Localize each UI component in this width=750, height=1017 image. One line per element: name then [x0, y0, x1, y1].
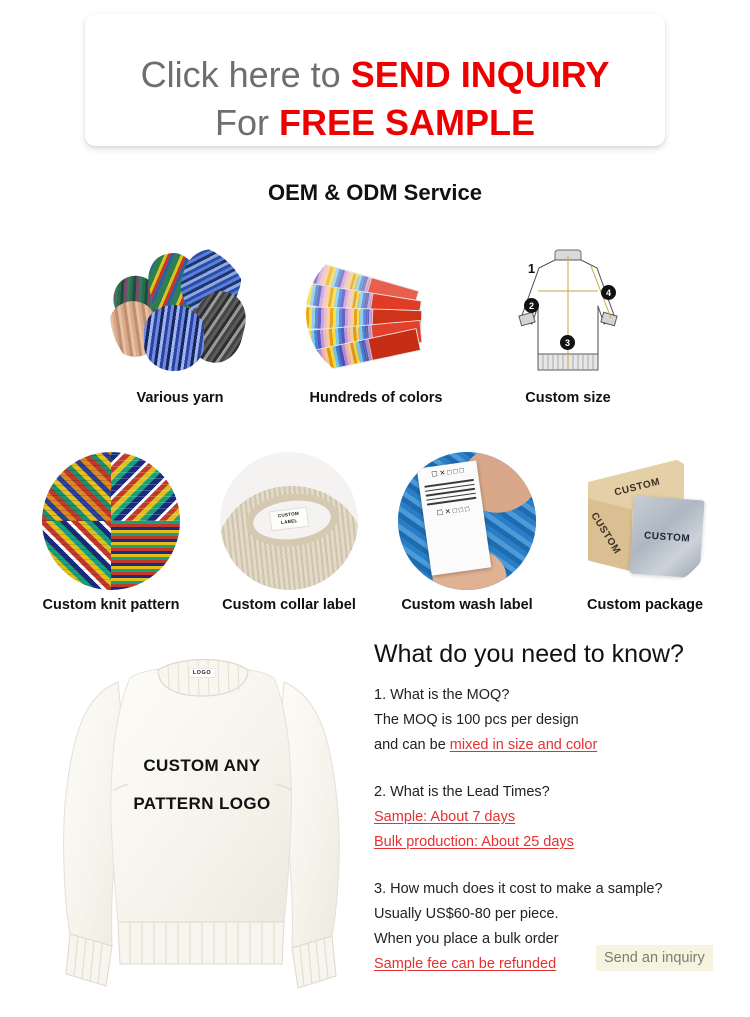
- feature-caption: Various yarn: [85, 390, 275, 406]
- send-inquiry-banner[interactable]: Click here to SEND INQUIRY For FREE SAMP…: [85, 14, 665, 146]
- wash-instruction-lines: [424, 479, 476, 506]
- size-marker-4: 4: [601, 285, 616, 300]
- feature-custom-size[interactable]: 1 2 3 4 Custom size: [473, 243, 663, 406]
- banner-line-2-gray: For: [215, 102, 279, 143]
- wash-symbols-top: ☐ ✕ □ □ □: [421, 466, 473, 480]
- faq-answer-2-bulk-time: Bulk production: About 25 days: [374, 830, 734, 855]
- wash-label-icon: ☐ ✕ □ □ □ ☐ ✕ □ □ □: [398, 452, 536, 590]
- banner-line-1-red: SEND INQUIRY: [351, 54, 610, 95]
- faq-mixed-size-color-link[interactable]: mixed in size and color: [450, 737, 598, 753]
- feature-caption: Hundreds of colors: [281, 390, 471, 406]
- sweater-text-line-2: PATTERN LOGO: [32, 794, 372, 814]
- sweater-illustration: [32, 634, 372, 1012]
- faq-sample-fee-refund: Sample fee can be refunded: [374, 956, 556, 972]
- section-title: OEM & ODM Service: [0, 180, 750, 206]
- faq-question-1: 1. What is the MOQ?: [374, 683, 734, 708]
- poly-bag: CUSTOM: [629, 496, 704, 579]
- pantone-fan-icon: [306, 243, 446, 383]
- faq-question-3: 3. How much does it cost to make a sampl…: [374, 877, 734, 902]
- feature-various-yarn[interactable]: Various yarn: [85, 243, 275, 406]
- banner-line-1-gray: Click here to: [141, 54, 351, 95]
- faq-answer-3-line-1: Usually US$60-80 per piece.: [374, 902, 734, 927]
- feature-hundreds-of-colors[interactable]: Hundreds of colors: [281, 243, 471, 406]
- faq-answer-1-prefix: and can be: [374, 737, 450, 753]
- size-marker-3: 3: [560, 335, 575, 350]
- banner-line-2: For FREE SAMPLE: [85, 102, 665, 144]
- feature-caption: Custom collar label: [200, 597, 378, 613]
- feature-caption: Custom size: [473, 390, 663, 406]
- faq-answer-1-line-2: and can be mixed in size and color: [374, 733, 734, 758]
- feature-custom-package[interactable]: CUSTOM CUSTOM CUSTOM Custom package: [556, 452, 734, 613]
- poly-bag-word: CUSTOM: [644, 530, 691, 544]
- faq-question-2: 2. What is the Lead Times?: [374, 780, 734, 805]
- faq-answer-1-line-1: The MOQ is 100 pcs per design: [374, 708, 734, 733]
- feature-caption: Custom knit pattern: [22, 597, 200, 613]
- feature-caption: Custom package: [556, 597, 734, 613]
- faq-section: What do you need to know? 1. What is the…: [374, 640, 734, 977]
- feature-custom-knit-pattern[interactable]: Custom knit pattern: [22, 452, 200, 613]
- collar-tag-line-2: LABEL: [281, 518, 298, 527]
- size-marker-1: 1: [524, 261, 539, 276]
- size-marker-2: 2: [524, 298, 539, 313]
- faq-answer-2-sample-time: Sample: About 7 days: [374, 805, 734, 830]
- wash-symbols-bottom: ☐ ✕ □ □ □: [427, 504, 479, 518]
- banner-line-2-red: FREE SAMPLE: [279, 102, 535, 143]
- banner-line-1: Click here to SEND INQUIRY: [85, 54, 665, 96]
- yarn-balls-icon: [110, 243, 250, 383]
- sweater-text-line-1: CUSTOM ANY: [32, 756, 372, 776]
- collar-label-icon: CUSTOM LABEL: [220, 452, 358, 590]
- send-an-inquiry-button[interactable]: Send an inquiry: [596, 945, 713, 971]
- package-box-icon: CUSTOM CUSTOM CUSTOM: [576, 452, 714, 590]
- faq-answer-3-line-3-row: Sample fee can be refunded Send an inqui…: [374, 952, 734, 977]
- sweater-collar-logo: LOGO: [189, 668, 216, 678]
- knit-pattern-icon: [42, 452, 180, 590]
- feature-caption: Custom wash label: [378, 597, 556, 613]
- faq-title: What do you need to know?: [374, 640, 734, 669]
- sweater-measurement-diagram-icon: 1 2 3 4: [498, 243, 638, 383]
- feature-custom-wash-label[interactable]: ☐ ✕ □ □ □ ☐ ✕ □ □ □ Custom wash label: [378, 452, 556, 613]
- feature-custom-collar-label[interactable]: CUSTOM LABEL Custom collar label: [200, 452, 378, 613]
- custom-sweater-image: LOGO CUSTOM ANY PATTERN LOGO: [32, 634, 372, 1012]
